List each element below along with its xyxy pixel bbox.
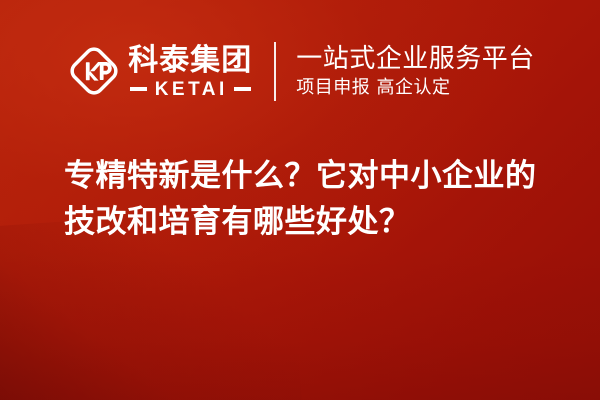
headline-block: 专精特新是什么？它对中小企业的 技改和培育有哪些好处？ [64,153,544,245]
brand-tagline-divider [274,42,276,101]
brand-lockup: 科泰集团 KETAI 一站式企业服务平台 项目申报 高企认定 [65,42,535,101]
wordmark-rule-right-icon [234,87,251,91]
ketai-diamond-kp-logo-icon [65,42,123,100]
tagline-block: 一站式企业服务平台 项目申报 高企认定 [296,43,535,100]
tagline-sub: 项目申报 高企认定 [296,76,535,100]
brand-name-cn: 科泰集团 [128,45,252,77]
banner-header: 科泰集团 KETAI 一站式企业服务平台 项目申报 高企认定 [0,36,600,106]
brand-name-en: KETAI [153,80,228,99]
brand-name-en-row: KETAI [130,80,251,99]
tagline-main: 一站式企业服务平台 [296,43,535,75]
wordmark-rule-left-icon [130,87,147,91]
headline-line-1: 专精特新是什么？它对中小企业的 [64,153,544,199]
brand-wordmark: 科泰集团 KETAI [128,44,252,99]
background-bottom-fade [0,250,600,400]
headline-line-2: 技改和培育有哪些好处？ [64,199,544,245]
promo-banner: 科泰集团 KETAI 一站式企业服务平台 项目申报 高企认定 专精特新是什么？它… [0,0,600,400]
